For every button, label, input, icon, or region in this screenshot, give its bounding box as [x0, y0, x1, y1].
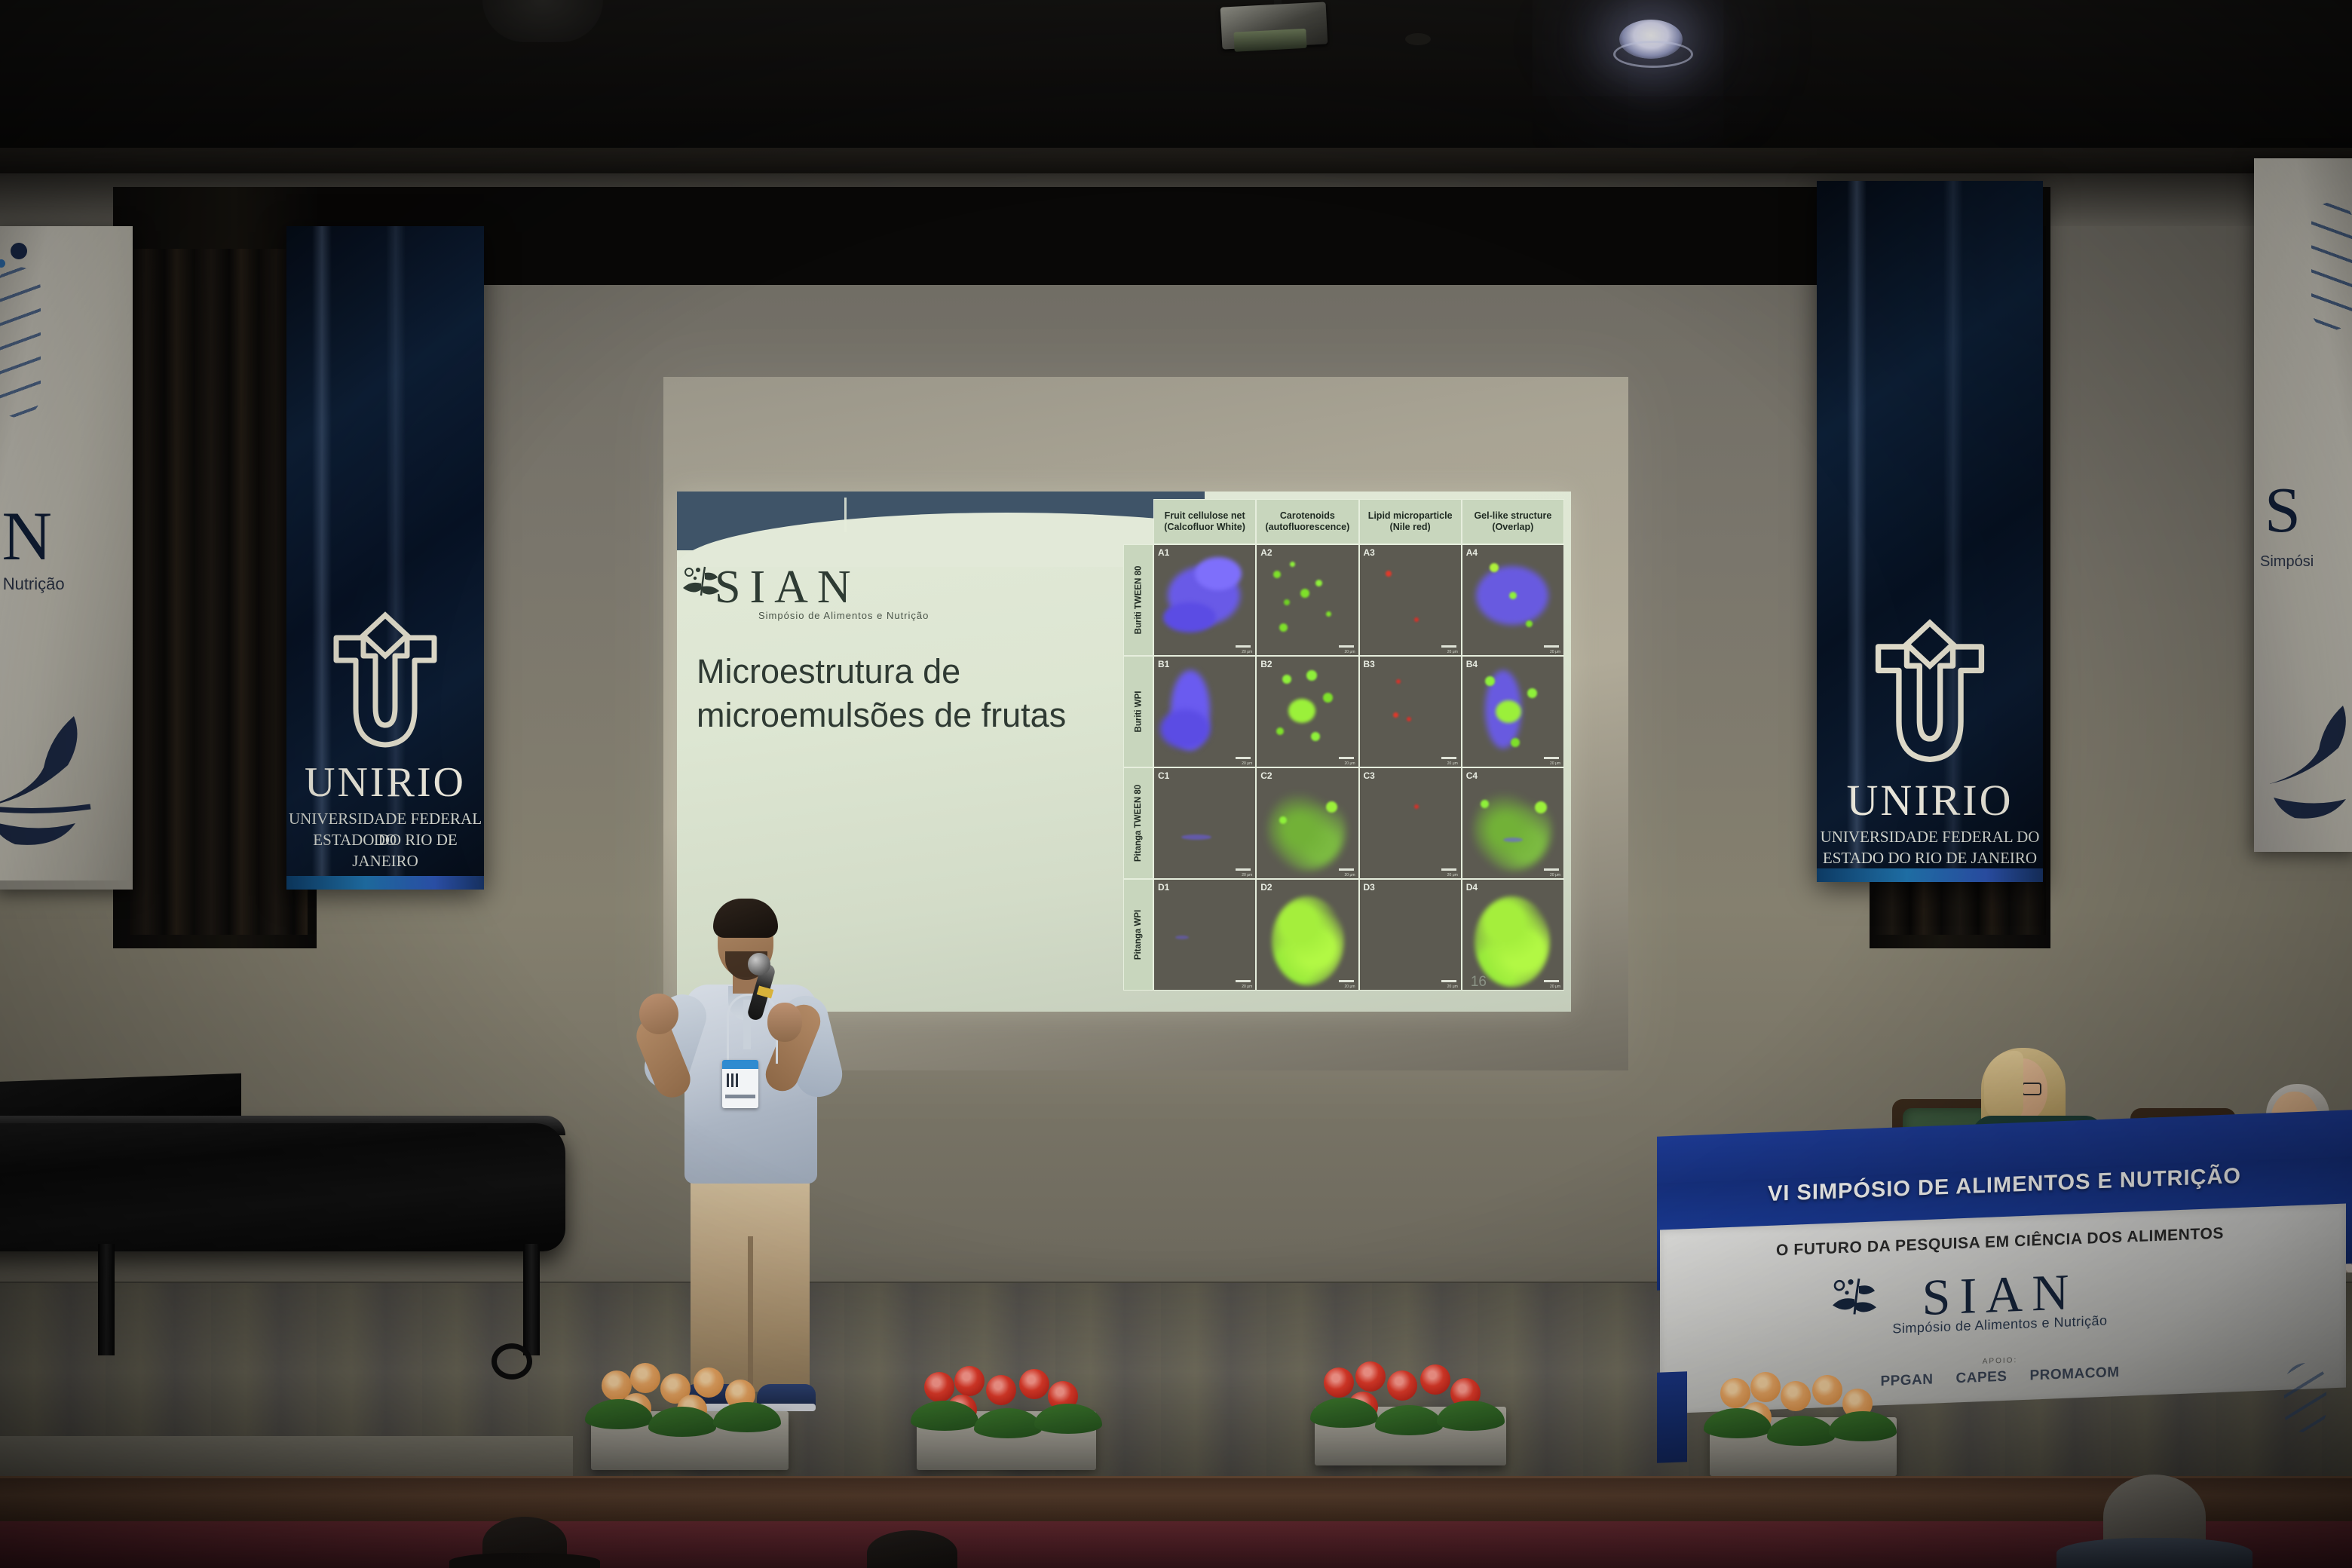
banner-foot	[0, 880, 133, 890]
flower	[1781, 1381, 1811, 1411]
table-row: Buriti WPI B1 20 μm B2	[1123, 656, 1564, 767]
piano-leg	[523, 1244, 540, 1355]
leaf-branch-icon	[2269, 686, 2352, 837]
flower	[694, 1367, 724, 1398]
slide-sian-tagline: Simpósio de Alimentos e Nutrição	[758, 610, 929, 621]
badge-qr-icon	[727, 1073, 740, 1087]
micrograph-cell-a1: A1 20 μm	[1153, 544, 1256, 656]
unirio-logo-icon	[329, 611, 442, 754]
slide-sian-word: SIAN	[715, 561, 929, 614]
ceiling-projector-icon	[1220, 2, 1328, 49]
slide-sian-logo: SIAN Simpósio de Alimentos e Nutrição	[715, 561, 929, 621]
banner-accent-bar	[1817, 868, 2043, 882]
micrograph-cell-b2: B2 20 μm	[1256, 656, 1358, 767]
micrograph-cell-b3: B3 20 μm	[1359, 656, 1462, 767]
micrograph-column-headers: Fruit cellulose net (Calcofluor White) C…	[1153, 499, 1564, 544]
slide-header-tick	[844, 498, 847, 532]
micrograph-cell-d3: D3 20 μm	[1359, 879, 1462, 991]
presentation-slide: SIAN Simpósio de Alimentos e Nutrição Mi…	[677, 492, 1571, 1012]
badge-text-line	[725, 1095, 755, 1098]
row-label-pitanga-tween80: Pitanga TWEEN 80	[1123, 767, 1153, 879]
column-header-carotenoids: Carotenoids (autofluorescence)	[1256, 499, 1358, 544]
slide-page-number: 16	[1471, 974, 1487, 991]
table-skirt-left	[1657, 1371, 1687, 1463]
flower	[1019, 1369, 1049, 1399]
micrograph-cell-a2: A2 20 μm	[1256, 544, 1358, 656]
unirio-banner-left: UNIRIO UNIVERSIDADE FEDERAL DO ESTADO DO…	[286, 226, 484, 890]
micrograph-cell-b1: B1 20 μm	[1153, 656, 1256, 767]
decor-dot	[0, 259, 5, 268]
micrograph-cell-c3: C3 20 μm	[1359, 767, 1462, 879]
slide-title-line2: microemulsões de frutas	[697, 694, 1119, 737]
auditorium-scene: AN os e Nutrição S Simpósi UNIRIO UNIVER…	[0, 0, 2352, 1568]
flower	[1812, 1375, 1842, 1405]
flower	[1420, 1364, 1450, 1395]
stage-riser-left	[0, 1436, 573, 1481]
table-row: Pitanga WPI D1 20 μm D2 20 μm D3 20 μm	[1123, 879, 1564, 991]
sian-banner-right-word: S	[2265, 472, 2304, 547]
sian-banner-left: AN os e Nutrição	[0, 226, 133, 890]
flower	[1355, 1361, 1386, 1392]
flower	[1387, 1370, 1417, 1401]
micrograph-cell-c1: C1 20 μm	[1153, 767, 1256, 879]
sponsor-ppgan: PPGAN	[1880, 1371, 1933, 1390]
unirio-right-sub2: ESTADO DO RIO DE JANEIRO	[1817, 847, 2043, 868]
column-header-gel: Gel-like structure (Overlap)	[1462, 499, 1564, 544]
table-row: Buriti TWEEN 80 A1 20 μm A2	[1123, 544, 1564, 656]
micrograph-cell-c4: C4 20 μm	[1462, 767, 1564, 879]
unirio-left-name: UNIRIO	[286, 758, 484, 807]
projection-screen: SIAN Simpósio de Alimentos e Nutrição Mi…	[663, 377, 1628, 1070]
audience-carpet	[0, 1521, 2352, 1568]
speaker-hand-right	[767, 1003, 802, 1042]
audience-shoulders	[2056, 1538, 2252, 1568]
unirio-right-name: UNIRIO	[1817, 775, 2043, 825]
leaf-branch-icon	[0, 694, 113, 867]
flower	[630, 1363, 660, 1393]
speaker-hand-left	[639, 994, 678, 1034]
speaker-trouser-seam	[748, 1236, 753, 1392]
dna-helix-icon	[0, 267, 41, 418]
unirio-left-sub2: ESTADO DO RIO DE JANEIRO	[286, 829, 484, 872]
stage-curtain-left	[130, 249, 308, 935]
sian-banner-right-tagline: Simpósi	[2260, 553, 2352, 571]
stage-apron	[0, 1476, 2352, 1528]
flower	[954, 1366, 985, 1396]
flower	[986, 1375, 1016, 1405]
dna-helix-icon	[2284, 1362, 2326, 1433]
row-label-buriti-wpi: Buriti WPI	[1123, 656, 1153, 767]
micrograph-cell-a3: A3 20 μm	[1359, 544, 1462, 656]
micrograph-cell-c2: C2 20 μm	[1256, 767, 1358, 879]
sponsor-promacom: PROMACOM	[2029, 1364, 2119, 1385]
unirio-banner-right: UNIRIO UNIVERSIDADE FEDERAL DO ESTADO DO…	[1817, 181, 2043, 882]
micrograph-cell-a4: A4 20 μm	[1462, 544, 1564, 656]
micrograph-cell-b4: B4 20 μm	[1462, 656, 1564, 767]
banner-accent-bar	[286, 876, 484, 890]
micrograph-cell-d2: D2 20 μm	[1256, 879, 1358, 991]
audience-shoulders	[449, 1553, 600, 1568]
flower	[924, 1372, 954, 1402]
sian-banner-right: S Simpósi	[2254, 158, 2352, 852]
dna-helix-icon	[2311, 202, 2352, 330]
spotlight-ring	[1613, 41, 1693, 68]
microphone-head-icon	[748, 953, 770, 975]
ceiling-vent	[1405, 33, 1431, 45]
sponsor-capes: CAPES	[1956, 1369, 2007, 1388]
unirio-right-sub1: UNIVERSIDADE FEDERAL DO	[1817, 826, 2043, 847]
sian-banner-left-word: AN	[0, 496, 98, 576]
sian-banner-left-tagline: os e Nutrição	[0, 574, 125, 594]
row-label-pitanga-wpi: Pitanga WPI	[1123, 879, 1153, 991]
table-row: Pitanga TWEEN 80 C1 20 μm C2 20 μm	[1123, 767, 1564, 879]
slide-title: Microestrutura de microemulsões de fruta…	[697, 650, 1119, 737]
column-header-lipid: Lipid microparticle (Nile red)	[1359, 499, 1462, 544]
flower	[1750, 1372, 1781, 1402]
sian-leaf-icon	[680, 565, 728, 609]
flower	[1720, 1378, 1750, 1408]
piano-caster	[492, 1343, 532, 1380]
micrograph-cell-d1: D1 20 μm	[1153, 879, 1256, 991]
row-label-buriti-tween80: Buriti TWEEN 80	[1123, 544, 1153, 656]
sian-leaf-icon	[1829, 1276, 1886, 1331]
panelist-1-hair-front	[1984, 1051, 2023, 1123]
unirio-logo-icon	[1870, 618, 1990, 769]
micrograph-matrix: Fruit cellulose net (Calcofluor White) C…	[1123, 499, 1564, 997]
piano-leg	[98, 1244, 115, 1355]
slide-title-line1: Microestrutura de	[697, 650, 1119, 694]
column-header-cellulose: Fruit cellulose net (Calcofluor White)	[1153, 499, 1256, 544]
flower	[1324, 1367, 1354, 1398]
decor-dot	[11, 243, 27, 259]
grand-piano	[0, 1108, 603, 1357]
piano-body	[0, 1123, 565, 1251]
